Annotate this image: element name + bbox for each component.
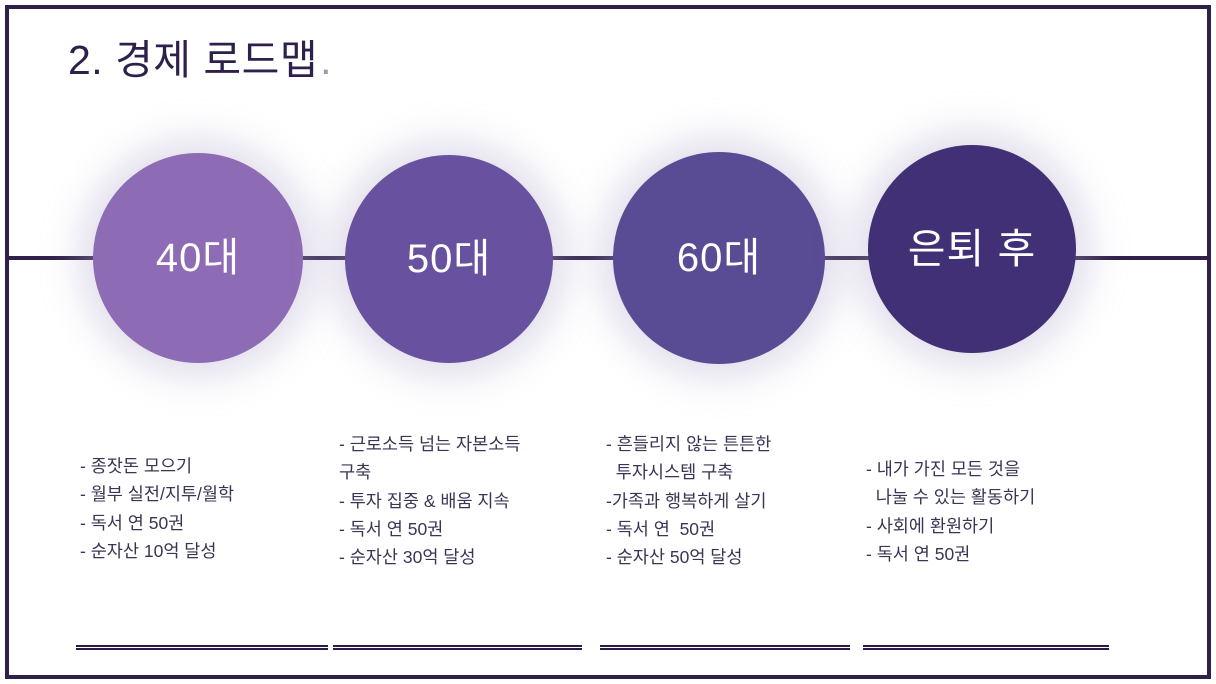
list-item: - 흔들리지 않는 튼튼한 — [606, 430, 851, 458]
stage-circle-60s[interactable]: 60대 — [613, 152, 825, 364]
list-item: - 독서 연 50권 — [866, 540, 1116, 568]
list-item: 구축 — [339, 458, 589, 486]
stage-divider-rule — [333, 645, 582, 650]
stage-divider-rule — [863, 645, 1109, 650]
list-item: - 순자산 10억 달성 — [80, 537, 330, 565]
stage-circle-label: 50대 — [407, 239, 491, 279]
timeline-stages: 40대 50대 60대 은퇴 후 — [0, 0, 1216, 400]
list-item: - 월부 실전/지투/월학 — [80, 480, 330, 508]
stage-circle-shape: 40대 — [93, 153, 303, 363]
list-item: - 사회에 환원하기 — [866, 512, 1116, 540]
list-item: - 근로소득 넘는 자본소득 — [339, 430, 589, 458]
stage-circle-retirement[interactable]: 은퇴 후 — [868, 145, 1076, 353]
stage-details-40s: - 종잣돈 모으기- 월부 실전/지투/월학- 독서 연 50권- 순자산 10… — [80, 452, 330, 565]
stage-divider-rule — [600, 645, 850, 650]
stage-detail-columns: - 종잣돈 모으기- 월부 실전/지투/월학- 독서 연 50권- 순자산 10… — [0, 420, 1216, 670]
stage-details-50s: - 근로소득 넘는 자본소득구축- 투자 집중 & 배움 지속- 독서 연 50… — [339, 430, 589, 572]
list-item: - 내가 가진 모든 것을 — [866, 455, 1116, 483]
list-item: - 독서 연 50권 — [339, 515, 589, 543]
stage-circle-50s[interactable]: 50대 — [345, 155, 553, 363]
stage-circle-label: 60대 — [677, 238, 761, 278]
list-item: - 순자산 50억 달성 — [606, 543, 851, 571]
list-item: 투자시스템 구축 — [606, 458, 851, 486]
stage-details-60s: - 흔들리지 않는 튼튼한 투자시스템 구축-가족과 행복하게 살기- 독서 연… — [606, 430, 851, 572]
list-item: - 순자산 30억 달성 — [339, 543, 589, 571]
list-item: - 독서 연 50권 — [80, 509, 330, 537]
stage-circle-label: 40대 — [156, 238, 240, 278]
stage-circle-shape: 은퇴 후 — [868, 145, 1076, 353]
stage-goal-list: - 내가 가진 모든 것을 나눌 수 있는 활동하기- 사회에 환원하기- 독서… — [866, 455, 1116, 568]
slide-canvas: 2. 경제 로드맵 . 40대 50대 60대 은퇴 후 - 종잣 — [0, 0, 1216, 684]
stage-divider-rule — [76, 645, 328, 650]
list-item: 나눌 수 있는 활동하기 — [866, 483, 1116, 511]
stage-goal-list: - 종잣돈 모으기- 월부 실전/지투/월학- 독서 연 50권- 순자산 10… — [80, 452, 330, 565]
list-item: - 독서 연 50권 — [606, 515, 851, 543]
stage-goal-list: - 근로소득 넘는 자본소득구축- 투자 집중 & 배움 지속- 독서 연 50… — [339, 430, 589, 572]
list-item: - 종잣돈 모으기 — [80, 452, 330, 480]
stage-circle-shape: 60대 — [613, 152, 825, 364]
list-item: - 투자 집중 & 배움 지속 — [339, 487, 589, 515]
stage-circle-40s[interactable]: 40대 — [93, 153, 303, 363]
stage-circle-shape: 50대 — [345, 155, 553, 363]
list-item: -가족과 행복하게 살기 — [606, 487, 851, 515]
stage-details-retirement: - 내가 가진 모든 것을 나눌 수 있는 활동하기- 사회에 환원하기- 독서… — [866, 455, 1116, 568]
stage-circle-label: 은퇴 후 — [908, 229, 1037, 270]
stage-goal-list: - 흔들리지 않는 튼튼한 투자시스템 구축-가족과 행복하게 살기- 독서 연… — [606, 430, 851, 572]
